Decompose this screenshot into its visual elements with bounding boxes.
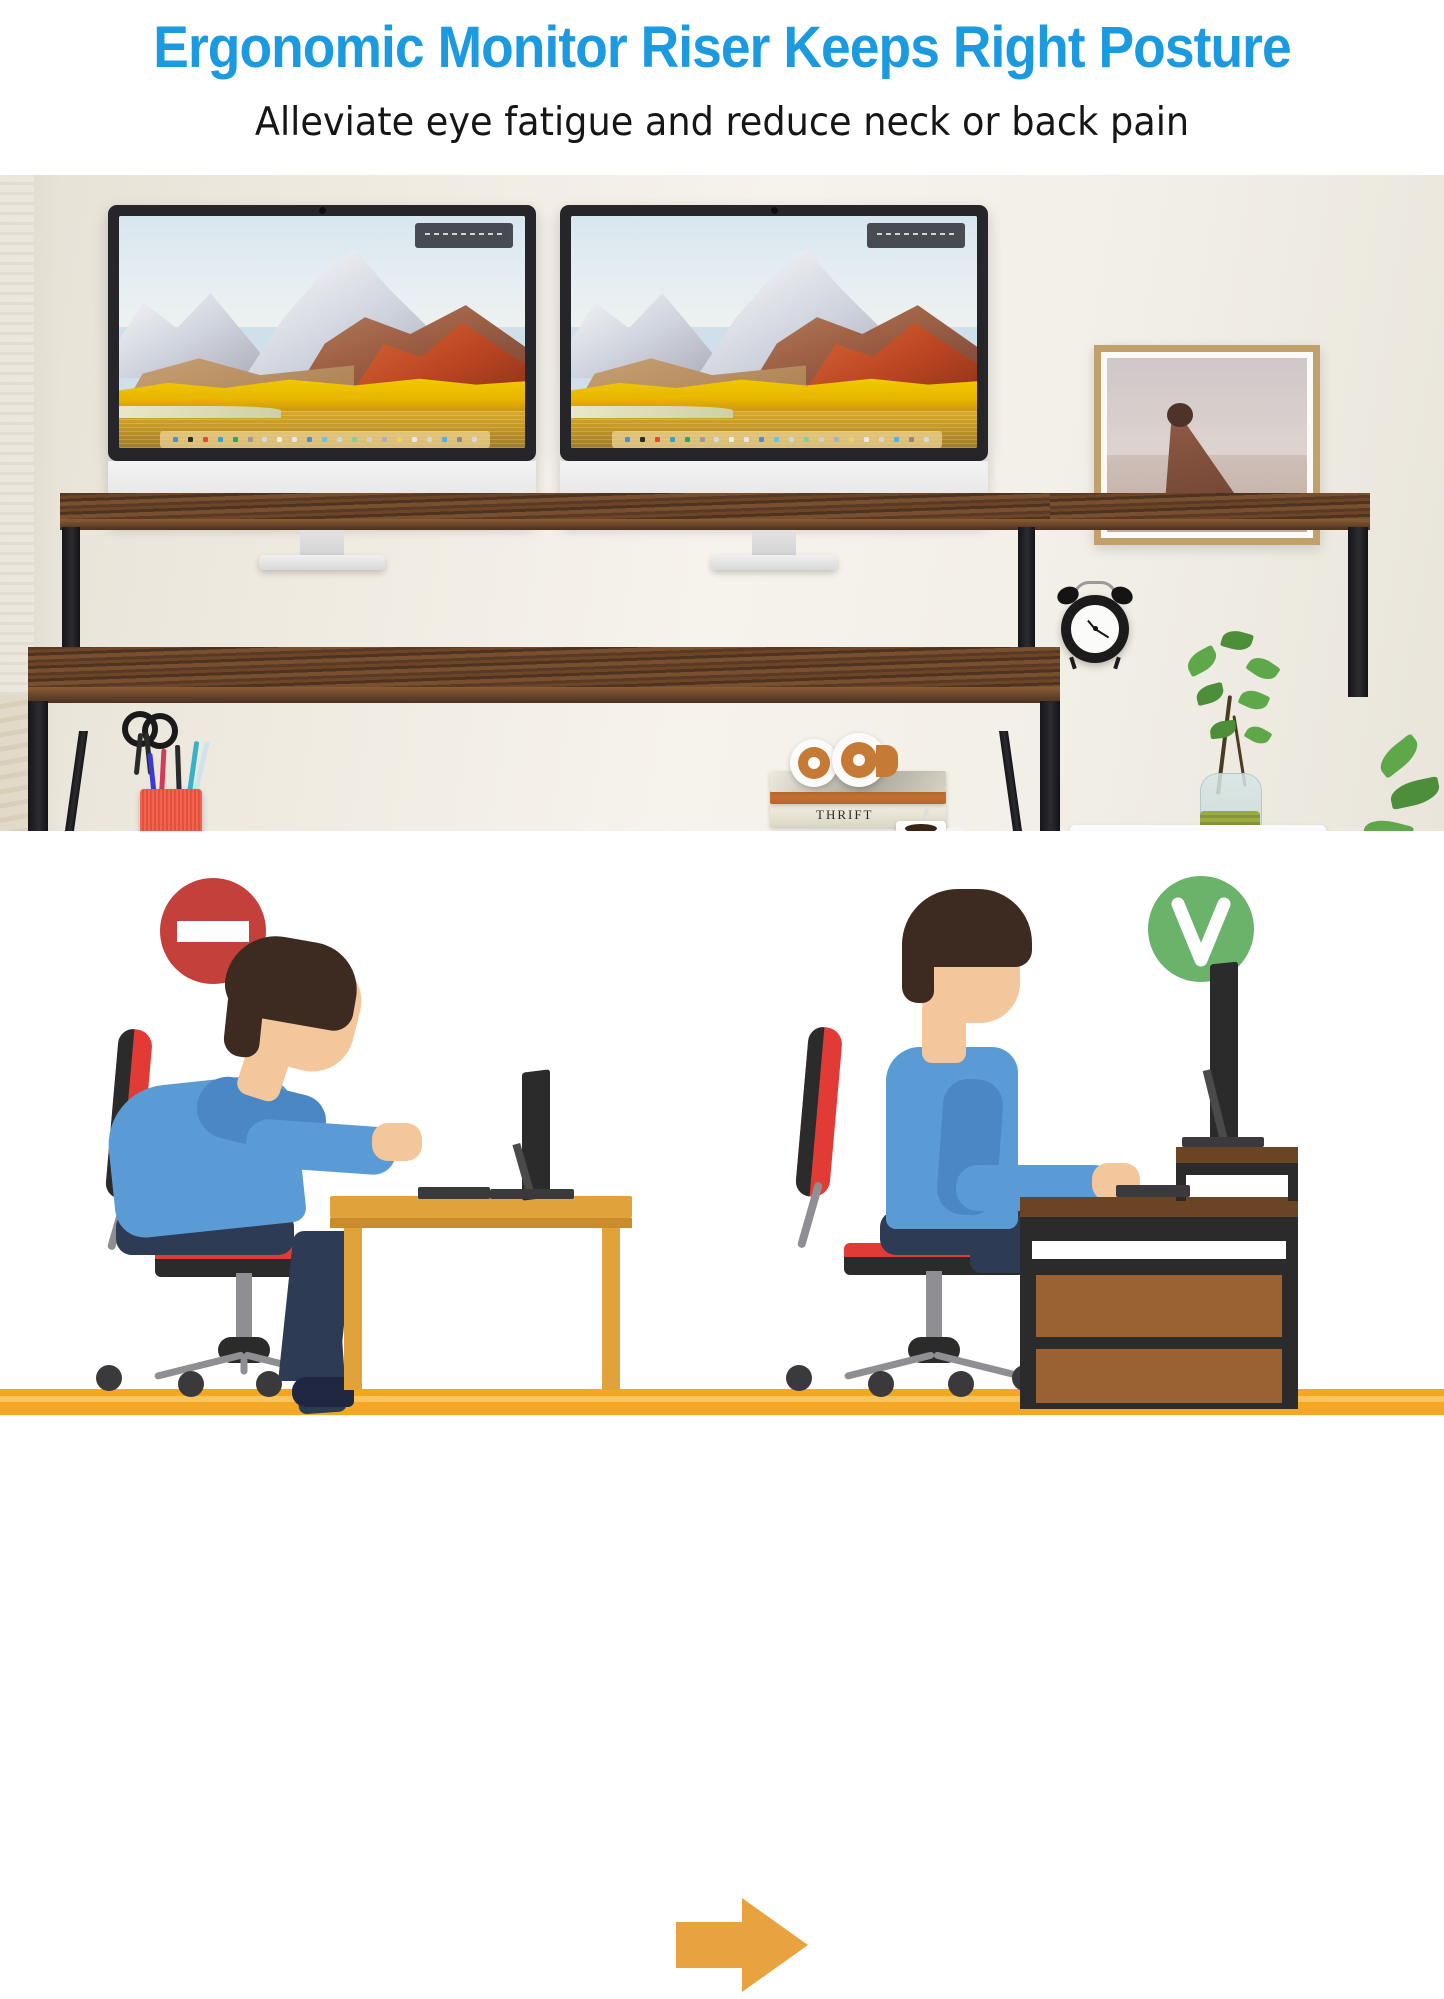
macos-dock[interactable] bbox=[160, 431, 491, 448]
chair-caster bbox=[178, 1371, 204, 1397]
monitor-right-bezel bbox=[560, 205, 988, 461]
headphone-band bbox=[876, 745, 898, 777]
macos-dock[interactable] bbox=[612, 431, 943, 448]
desk-surface-edge bbox=[330, 1218, 632, 1228]
monitor-left bbox=[108, 205, 536, 525]
clock-center-pin bbox=[1093, 626, 1098, 631]
monitor-right-screen bbox=[571, 216, 977, 448]
cabinet-drawer-lower[interactable] bbox=[1036, 1349, 1282, 1403]
desk-leg-left bbox=[344, 1228, 362, 1390]
riser-deck bbox=[1176, 1147, 1298, 1163]
cabinet-desktop-edge bbox=[1020, 1217, 1298, 1231]
monitor-left-screen bbox=[119, 216, 525, 448]
desk-leg-right bbox=[1040, 701, 1060, 831]
posture-comparison-illustration bbox=[0, 831, 1444, 1444]
riser-leg-right bbox=[1348, 527, 1368, 697]
transition-arrow-icon bbox=[676, 1896, 808, 1994]
riser-shelf-edge bbox=[60, 519, 1370, 530]
wrong-posture-panel bbox=[0, 831, 700, 1444]
monitor-right-foot bbox=[711, 555, 837, 570]
page-title: Ergonomic Monitor Riser Keeps Right Post… bbox=[58, 14, 1386, 81]
desk-right-top bbox=[1050, 493, 1370, 519]
chair-post bbox=[926, 1271, 942, 1345]
keyboard-illustration bbox=[418, 1187, 490, 1199]
riser-leg-mid bbox=[1018, 527, 1035, 657]
screen-menubar bbox=[415, 223, 512, 249]
coffee-cup bbox=[886, 815, 962, 831]
plant-leaf bbox=[1374, 733, 1424, 779]
alarm-clock bbox=[1055, 579, 1135, 667]
cabinet-drawer-upper[interactable] bbox=[1036, 1275, 1282, 1337]
chair-backrest bbox=[795, 1026, 844, 1198]
riser-leg-right bbox=[1288, 1175, 1298, 1201]
plant-leaf bbox=[1362, 816, 1414, 831]
webcam-icon bbox=[319, 207, 326, 214]
chair-caster bbox=[96, 1365, 122, 1391]
cabinet-gap bbox=[1032, 1241, 1286, 1259]
chair-caster bbox=[868, 1371, 894, 1397]
plant-leaf bbox=[1388, 776, 1442, 810]
desk-leg-left bbox=[28, 701, 48, 831]
headphone-cup-left bbox=[790, 739, 838, 787]
page-subtitle: Alleviate eye fatigue and reduce neck or… bbox=[43, 100, 1400, 145]
monitor-left-bezel bbox=[108, 205, 536, 461]
wallpaper-shore bbox=[571, 406, 733, 418]
cup-body bbox=[896, 821, 946, 831]
book-title: THRIFT bbox=[816, 807, 874, 823]
person-hand bbox=[372, 1123, 422, 1161]
monitor-right-neck bbox=[752, 529, 796, 557]
menubar-items bbox=[877, 233, 955, 235]
monitor-left-neck bbox=[300, 529, 344, 557]
riser-leg-left bbox=[62, 527, 80, 657]
check-sign-icon bbox=[1148, 876, 1254, 982]
chair-caster bbox=[786, 1365, 812, 1391]
chair-post bbox=[236, 1273, 252, 1345]
desk-leg-right bbox=[602, 1228, 620, 1390]
correct-posture-panel bbox=[744, 831, 1444, 1444]
desk-top-main bbox=[28, 647, 1060, 687]
curtain bbox=[0, 175, 34, 695]
monitor-right bbox=[560, 205, 988, 525]
monitor-left-foot bbox=[259, 555, 385, 570]
book-middle bbox=[770, 791, 946, 804]
header-section: Ergonomic Monitor Riser Keeps Right Post… bbox=[0, 0, 1444, 175]
clock-face bbox=[1069, 603, 1121, 655]
keyboard-illustration bbox=[1116, 1185, 1190, 1197]
pen-cup bbox=[140, 789, 202, 831]
coffee-liquid bbox=[905, 824, 937, 831]
desk-surface bbox=[330, 1196, 632, 1218]
chair-spoke bbox=[933, 1351, 1024, 1380]
house-plant-right bbox=[1324, 735, 1444, 831]
chair-caster bbox=[948, 1371, 974, 1397]
cabinet-desktop bbox=[1020, 1197, 1298, 1217]
person-hair-back bbox=[902, 927, 934, 1003]
chair-spoke bbox=[241, 1357, 248, 1375]
headphones bbox=[790, 731, 905, 791]
curtain-lower bbox=[0, 695, 30, 831]
monitor-base bbox=[490, 1189, 574, 1199]
desk-top-edge bbox=[28, 687, 1060, 703]
art-sky bbox=[1107, 358, 1307, 459]
wallpaper-shore bbox=[119, 406, 281, 418]
menubar-items bbox=[425, 233, 503, 235]
product-infographic-page: Ergonomic Monitor Riser Keeps Right Post… bbox=[0, 0, 1444, 1444]
webcam-icon bbox=[771, 207, 778, 214]
product-lifestyle-photo: THRIFT bbox=[0, 175, 1444, 831]
riser-deck-edge bbox=[1176, 1163, 1298, 1175]
monitor-base bbox=[1182, 1137, 1264, 1147]
screen-menubar bbox=[867, 223, 964, 249]
